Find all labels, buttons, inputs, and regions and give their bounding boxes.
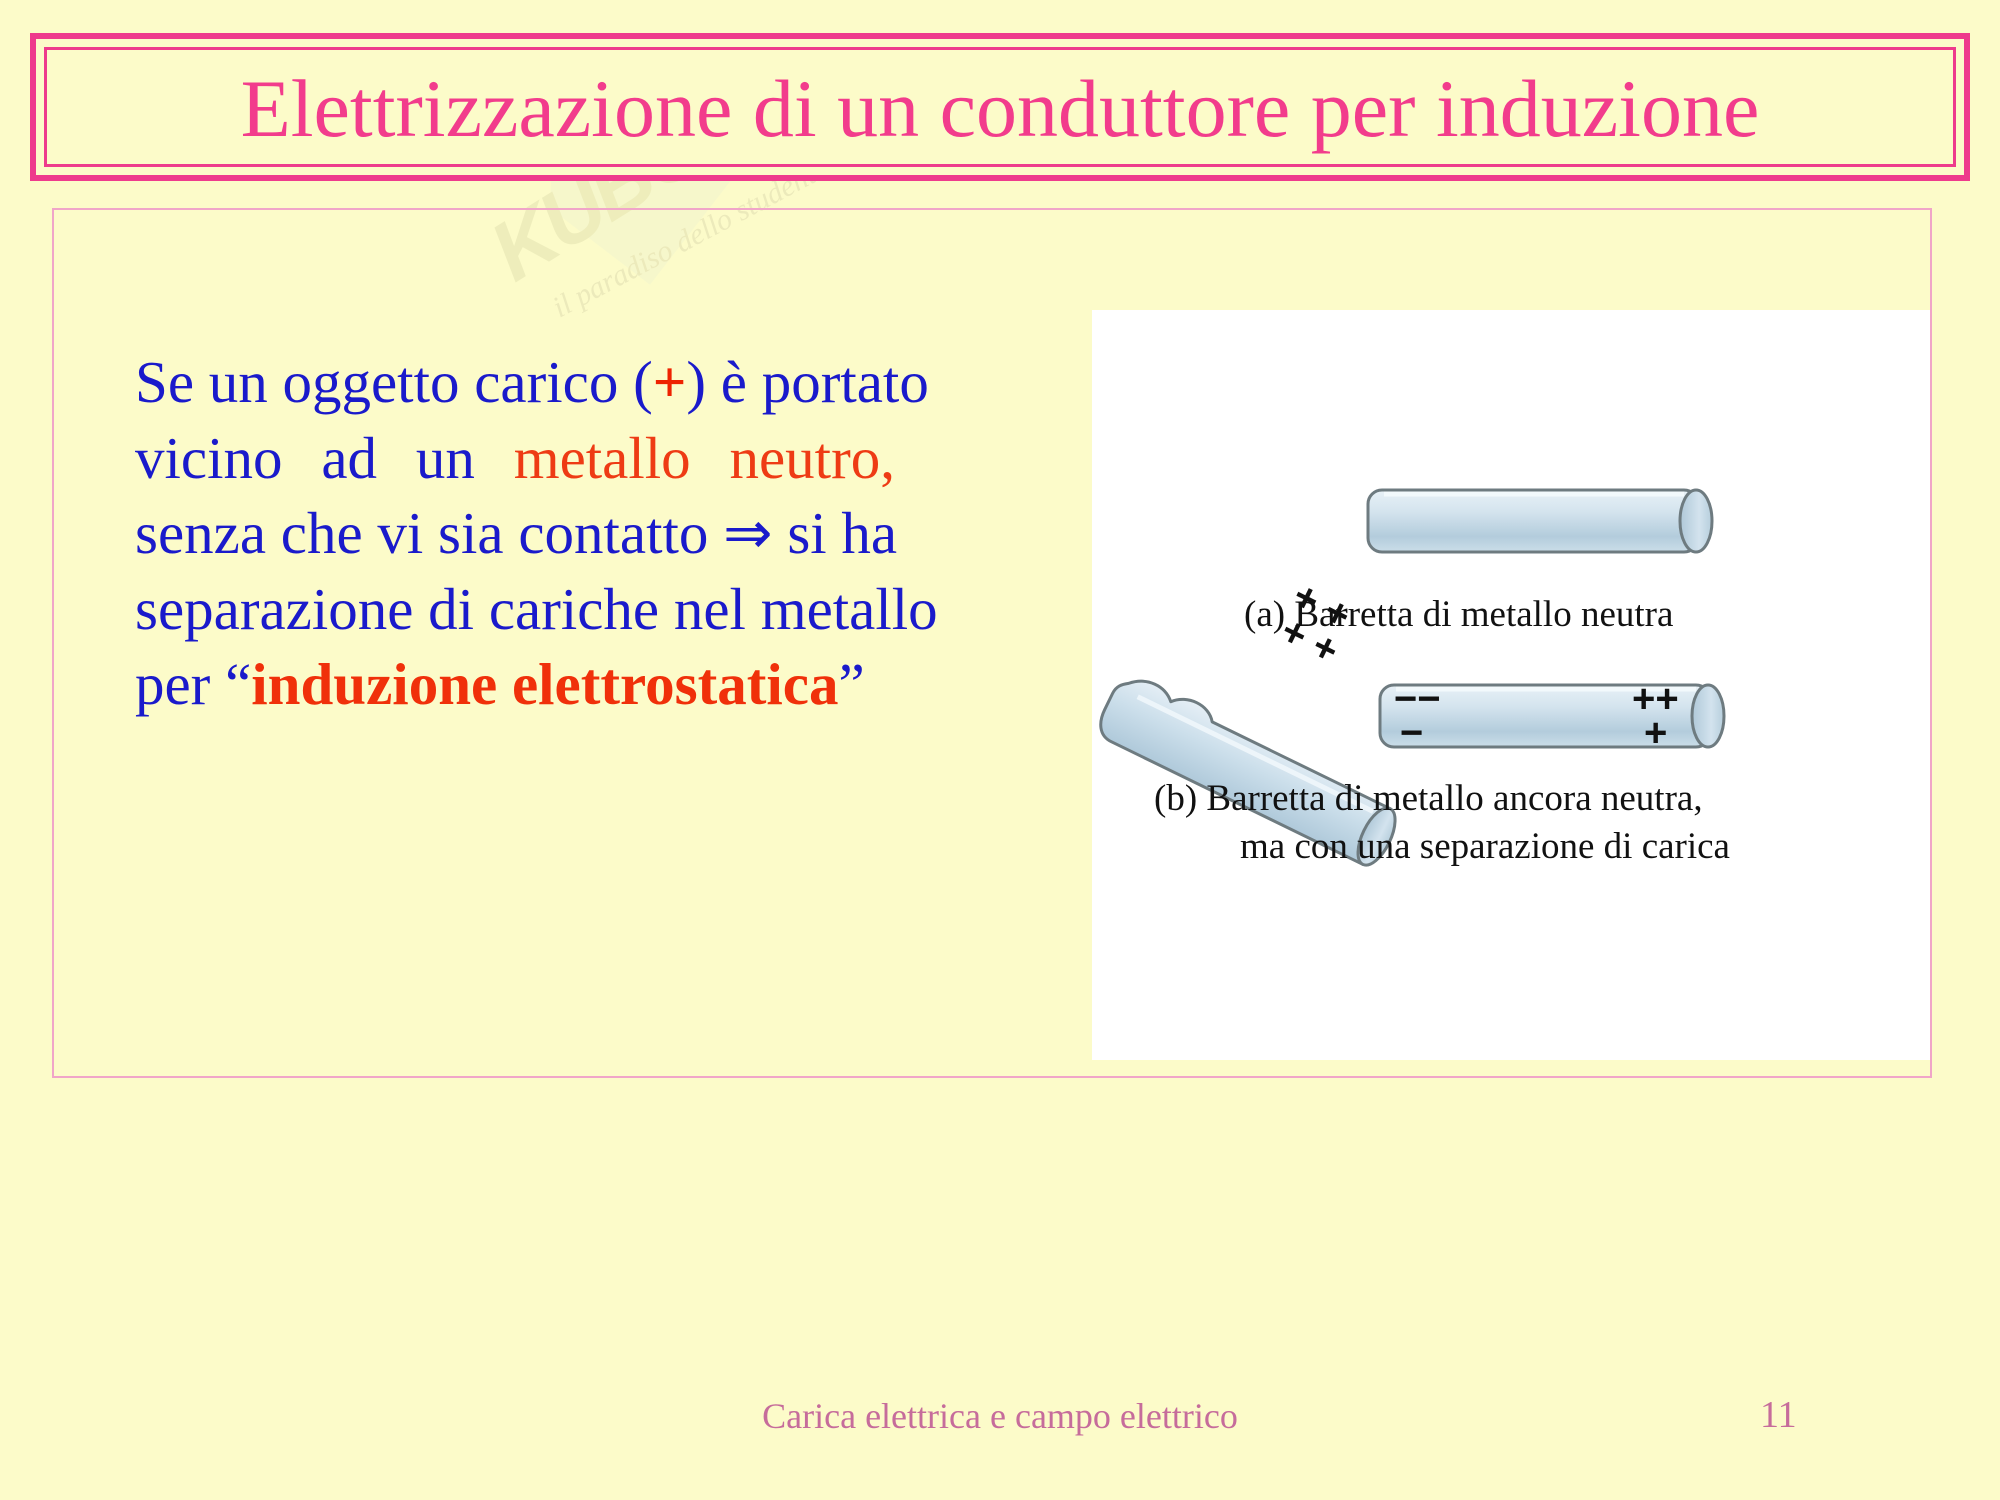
body-line-2: vicino ad un metallo neutro, bbox=[135, 421, 895, 497]
slide-root: KUBO il paradiso dello studente Elettriz… bbox=[0, 0, 2000, 1500]
body-line-2-word-2: ad bbox=[321, 421, 377, 497]
body-line-5: per “induzione elettrostatica” bbox=[135, 647, 895, 723]
figure-rod-positive-charges: + + + + bbox=[1274, 574, 1357, 674]
body-line-4: separazione di cariche nel metallo bbox=[135, 572, 895, 648]
footer-text: Carica elettrica e campo elettrico bbox=[0, 1395, 2000, 1437]
body-text: Se un oggetto carico (+) è portato vicin… bbox=[135, 345, 895, 723]
body-line-2-word-1: vicino bbox=[135, 421, 282, 497]
body-line-5-part-c: ” bbox=[838, 651, 864, 717]
body-line-5-part-a: per “ bbox=[135, 651, 251, 717]
page-number: 11 bbox=[1760, 1393, 1797, 1437]
figure-caption-b-line1: (b) Barretta di metallo ancora neutra, bbox=[1154, 778, 1703, 819]
page-title: Elettrizzazione di un conduttore per ind… bbox=[241, 68, 1760, 150]
body-line-2-word-5: neutro, bbox=[730, 421, 895, 497]
title-box-inner-border: Elettrizzazione di un conduttore per ind… bbox=[44, 47, 1956, 167]
body-line-1-part-b: ) è portato bbox=[686, 349, 928, 415]
svg-text:+: + bbox=[1644, 711, 1667, 755]
figure-a-bar bbox=[1368, 490, 1712, 552]
body-line-2-word-4: metallo bbox=[514, 421, 691, 497]
body-line-5-emphasis: induzione elettrostatica bbox=[251, 651, 838, 717]
body-line-2-word-3: un bbox=[416, 421, 475, 497]
title-box: Elettrizzazione di un conduttore per ind… bbox=[30, 33, 1970, 181]
body-line-3: senza che vi sia contatto ⇒ si ha bbox=[135, 496, 895, 572]
figure-caption-b-line2: ma con una separazione di carica bbox=[1240, 826, 1730, 867]
svg-text:−: − bbox=[1400, 711, 1423, 755]
body-line-1: Se un oggetto carico (+) è portato bbox=[135, 345, 895, 421]
physics-diagram: (a) Barretta di metallo neutra + + + + −… bbox=[1092, 310, 1930, 1060]
body-line-1-plus: + bbox=[653, 349, 687, 415]
body-line-1-part-a: Se un oggetto carico ( bbox=[135, 349, 653, 415]
figure-panel: (a) Barretta di metallo neutra + + + + −… bbox=[1092, 310, 1930, 1060]
